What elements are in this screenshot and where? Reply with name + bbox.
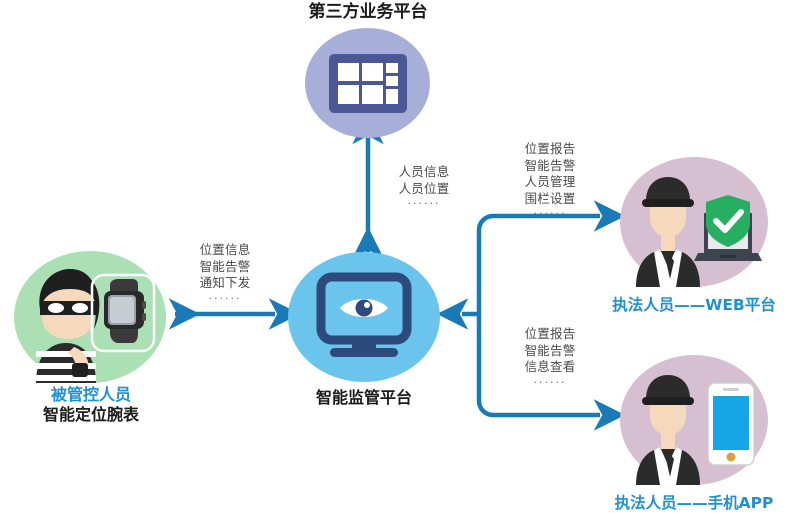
edge-label-person-hub-line-0: 位置信息 — [175, 242, 275, 259]
dashboard-grid-icon — [305, 28, 430, 138]
monitor-eye-icon — [288, 252, 440, 382]
edge-label-hub-web-ellipsis: ······ — [504, 207, 596, 222]
edge-label-hub-thirdparty-line-1: 人员位置 — [378, 181, 470, 198]
monitoring-platform-caption-line-0: 智能监管平台 — [274, 388, 454, 408]
node-third-party-platform[interactable] — [305, 28, 430, 138]
officer-smartphone-icon — [620, 355, 768, 485]
officer-app-caption: 执法人员——手机APP — [604, 494, 784, 513]
controlled-person-caption: 被管控人员 智能定位腕表 — [5, 385, 177, 426]
officer-web-caption: 执法人员——WEB平台 — [604, 296, 784, 316]
edge-label-hub-web: 位置报告 智能告警 人员管理 围栏设置 ······ — [504, 141, 596, 222]
edge-label-person-hub-line-1: 智能告警 — [175, 259, 275, 276]
node-officer-web[interactable] — [620, 157, 768, 287]
officer-app-caption-line-0: 执法人员——手机APP — [604, 494, 784, 513]
controlled-person-caption-line-1: 智能定位腕表 — [5, 405, 177, 425]
edge-label-person-hub-line-2: 通知下发 — [175, 275, 275, 292]
controlled-person-caption-line-0: 被管控人员 — [5, 385, 177, 405]
edge-label-hub-app: 位置报告 智能告警 信息查看 ······ — [504, 326, 596, 390]
edge-label-hub-web-line-3: 围栏设置 — [504, 191, 596, 208]
third-party-platform-caption-line-0: 第三方业务平台 — [268, 2, 468, 24]
node-officer-app[interactable] — [620, 355, 768, 485]
edge-label-hub-app-line-0: 位置报告 — [504, 326, 596, 343]
edge-label-person-hub: 位置信息 智能告警 通知下发 ······ — [175, 242, 275, 306]
edge-label-hub-thirdparty: 人员信息 人员位置 ······ — [378, 164, 470, 212]
person-with-smartwatch-icon — [14, 251, 166, 383]
edge-label-hub-web-line-2: 人员管理 — [504, 174, 596, 191]
edge-label-hub-thirdparty-line-0: 人员信息 — [378, 164, 470, 181]
edge-label-hub-web-line-0: 位置报告 — [504, 141, 596, 158]
edge-label-hub-thirdparty-ellipsis: ······ — [378, 197, 470, 212]
edge-label-hub-app-line-2: 信息查看 — [504, 359, 596, 376]
third-party-platform-caption: 第三方业务平台 — [268, 2, 468, 24]
officer-web-caption-line-0: 执法人员——WEB平台 — [604, 296, 784, 316]
diagram-canvas: 第三方业务平台 智能监管平台 — [0, 0, 788, 513]
edge-label-hub-app-line-1: 智能告警 — [504, 343, 596, 360]
node-monitoring-platform[interactable] — [288, 252, 440, 382]
node-controlled-person[interactable] — [14, 251, 166, 383]
edge-label-person-hub-ellipsis: ······ — [175, 292, 275, 307]
edge-label-hub-web-line-1: 智能告警 — [504, 158, 596, 175]
edge-label-hub-app-ellipsis: ······ — [504, 376, 596, 391]
officer-laptop-shield-icon — [620, 157, 768, 287]
monitoring-platform-caption: 智能监管平台 — [274, 388, 454, 408]
